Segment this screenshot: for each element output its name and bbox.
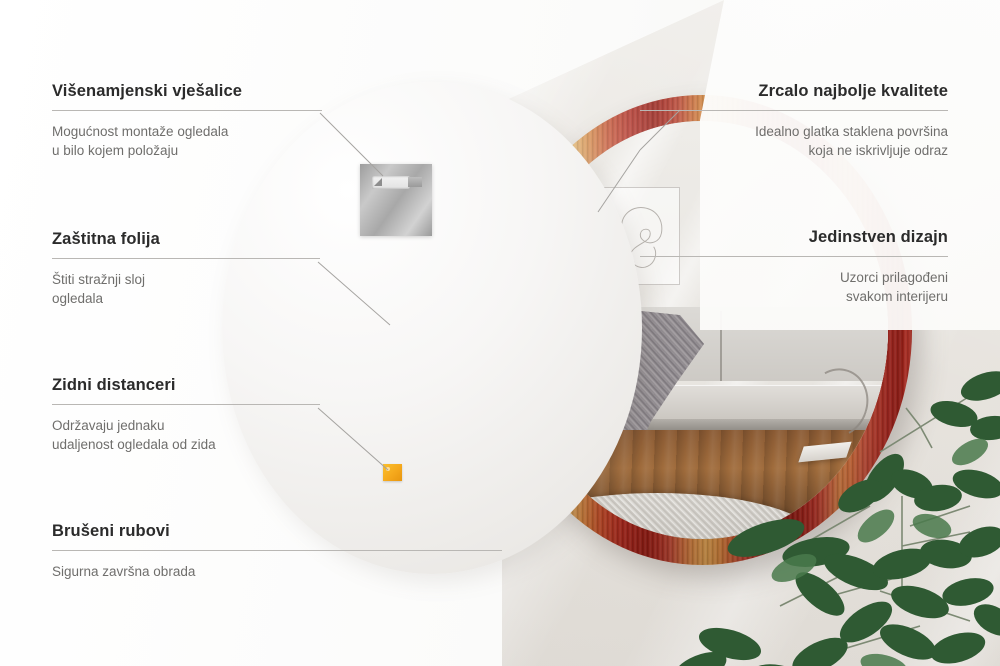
callout-polished-edges-title: Brušeni rubovi [52, 522, 502, 541]
callout-best-quality-mirror-rule [640, 110, 948, 111]
callout-unique-design-rule [640, 256, 948, 257]
callout-wall-spacers-line1: Održavaju jednaku [52, 416, 320, 435]
hanger-plate-marker [360, 164, 432, 236]
callout-unique-design-title: Jedinstven dizajn [640, 228, 948, 247]
callout-polished-edges: Brušeni rubovi Sigurna završna obrada [52, 522, 502, 581]
callout-unique-design-line1: Uzorci prilagođeni [640, 268, 948, 287]
foliage-branches [670, 356, 1000, 666]
callout-hangers-rule [52, 110, 322, 111]
callout-protective-film-title: Zaštitna folija [52, 230, 320, 249]
callout-hangers-line2: u bilo kojem položaju [52, 141, 322, 160]
callout-protective-film-line1: Štiti stražnji sloj [52, 270, 320, 289]
wall-spacer-marker [383, 464, 402, 481]
hanger-tab [408, 177, 422, 187]
callout-wall-spacers-line2: udaljenost ogledala od zida [52, 435, 320, 454]
callout-protective-film-rule [52, 258, 320, 259]
callout-best-quality-mirror-line1: Idealno glatka staklena površina [640, 122, 948, 141]
callout-polished-edges-rule [52, 550, 502, 551]
infographic-canvas: Višenamjenski vješalice Mogućnost montaž… [0, 0, 1000, 666]
callout-protective-film: Zaštitna folija Štiti stražnji sloj ogle… [52, 230, 320, 308]
callout-polished-edges-line1: Sigurna završna obrada [52, 562, 502, 581]
callout-hangers: Višenamjenski vješalice Mogućnost montaž… [52, 82, 322, 160]
callout-hangers-line1: Mogućnost montaže ogledala [52, 122, 322, 141]
callout-wall-spacers-rule [52, 404, 320, 405]
callout-best-quality-mirror: Zrcalo najbolje kvalitete Idealno glatka… [640, 82, 948, 160]
callout-unique-design: Jedinstven dizajn Uzorci prilagođeni sva… [640, 228, 948, 306]
callout-best-quality-mirror-title: Zrcalo najbolje kvalitete [640, 82, 948, 101]
callout-best-quality-mirror-line2: koja ne iskrivljuje odraz [640, 141, 948, 160]
hanger-slot [372, 176, 410, 189]
callout-hangers-title: Višenamjenski vješalice [52, 82, 322, 101]
callout-wall-spacers: Zidni distanceri Održavaju jednaku udalj… [52, 376, 320, 454]
callout-protective-film-line2: ogledala [52, 289, 320, 308]
callout-wall-spacers-title: Zidni distanceri [52, 376, 320, 395]
callout-unique-design-line2: svakom interijeru [640, 287, 948, 306]
